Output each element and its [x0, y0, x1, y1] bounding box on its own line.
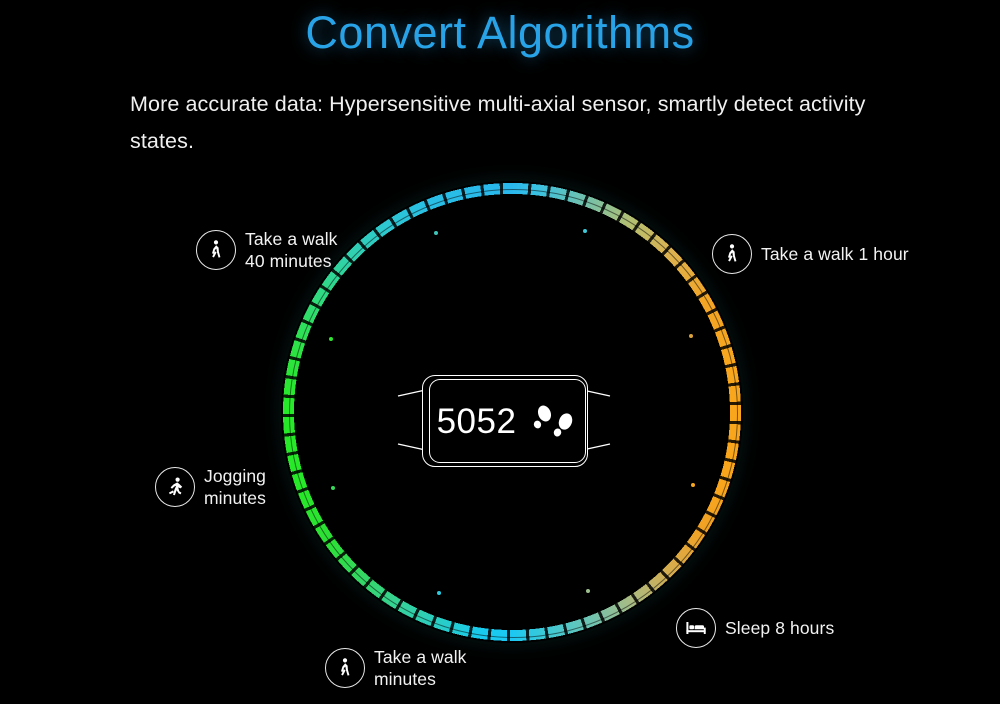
label-sleep-8-hours[interactable]: Sleep 8 hours — [676, 608, 834, 648]
running-person-icon — [155, 467, 195, 507]
ring-marker-dot — [691, 483, 695, 487]
smart-band: 5052 — [396, 372, 612, 468]
bed-icon — [676, 608, 716, 648]
label-text: Take a walk 40 minutes — [245, 228, 338, 272]
ring-marker-dot — [434, 231, 438, 235]
page-subtitle: More accurate data: Hypersensitive multi… — [130, 86, 890, 160]
label-walk-40-minutes[interactable]: Take a walk 40 minutes — [196, 228, 338, 272]
ring-marker-dot — [331, 486, 335, 490]
label-text: Sleep 8 hours — [725, 617, 834, 639]
footprints-icon — [532, 404, 578, 438]
band-screen[interactable]: 5052 — [429, 379, 586, 463]
label-text: Jogging minutes — [204, 465, 266, 509]
label-text: Take a walk minutes — [374, 646, 467, 690]
walking-person-icon — [196, 230, 236, 270]
step-count-value: 5052 — [437, 404, 517, 439]
label-jogging-minutes[interactable]: Jogging minutes — [155, 465, 266, 509]
page-title: Convert Algorithms — [0, 4, 1000, 62]
slide-canvas: Convert Algorithms More accurate data: H… — [0, 0, 1000, 704]
label-walk-1-hour[interactable]: Take a walk 1 hour — [712, 234, 909, 274]
label-walk-minutes[interactable]: Take a walk minutes — [325, 646, 467, 690]
walking-person-icon — [712, 234, 752, 274]
walking-person-icon — [325, 648, 365, 688]
ring-marker-dot — [437, 591, 441, 595]
label-text: Take a walk 1 hour — [761, 243, 909, 265]
